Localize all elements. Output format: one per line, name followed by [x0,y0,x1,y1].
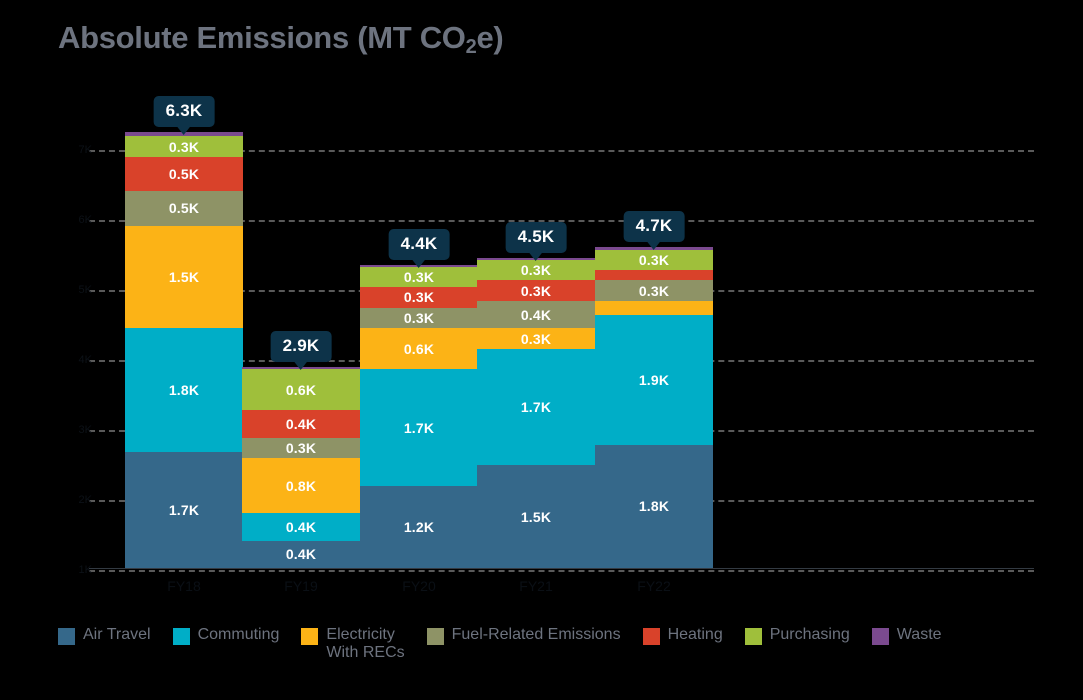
bar-segment[interactable]: 1.8K [125,328,243,451]
segment-value-label: 0.3K [286,441,316,455]
legend-label: Waste [897,626,942,644]
total-value-callout: 6.3K [154,96,215,127]
segment-value-label: 0.3K [639,253,669,267]
legend-color-swatch [643,628,660,645]
total-value-callout: 4.5K [506,222,567,253]
segment-value-label: 0.8K [286,479,316,493]
segment-value-label: 0.3K [404,270,434,284]
bar-segment[interactable]: 0.3K [360,267,478,288]
segment-value-label: 1.7K [404,421,434,435]
segment-value-label: 1.2K [404,520,434,534]
bar-segment[interactable]: 0.6K [360,328,478,369]
bar-segment[interactable]: 0.3K [595,250,713,271]
bar-segment[interactable] [595,301,713,315]
bar-segment[interactable]: 0.6K [242,369,360,410]
bar-group[interactable]: 1.2K1.7K0.6K0.3K0.3K0.3K [360,265,478,568]
bar-segment[interactable]: 0.4K [242,513,360,540]
x-axis-tick-label: FY19 [284,578,317,594]
legend-item[interactable]: Commuting [173,626,280,645]
legend-label: Heating [668,626,723,644]
title-tail: e) [476,20,503,55]
bar-segment[interactable]: 0.3K [242,438,360,459]
bar-segment[interactable]: 0.3K [477,328,595,349]
total-value-callout: 2.9K [271,331,332,362]
segment-value-label: 1.5K [169,270,199,284]
segment-value-label: 1.8K [169,383,199,397]
segment-value-label: 0.5K [169,201,199,215]
legend-label: Electricity With RECs [326,626,404,662]
legend-label: Commuting [198,626,280,644]
bar-segment[interactable]: 0.3K [125,136,243,157]
bar-segment[interactable]: 0.5K [125,157,243,191]
title-main: Absolute Emissions (MT CO [58,20,466,55]
x-axis-tick-label: FY22 [637,578,670,594]
page-title: Absolute Emissions (MT CO2e) [58,20,503,56]
legend-item[interactable]: Waste [872,626,942,645]
x-axis-tick-label: FY18 [167,578,200,594]
bar-segment[interactable]: 1.2K [360,486,478,568]
legend-label: Fuel-Related Emissions [452,626,621,644]
plot-area: 7K6K5K4K3K2K1K 1.7K1.8K1.5K0.5K0.5K0.3K6… [60,130,1020,570]
segment-value-label: 0.3K [521,332,551,346]
segment-value-label: 0.3K [404,290,434,304]
segment-value-label: 1.5K [521,510,551,524]
bar-segment[interactable]: 1.7K [125,452,243,568]
total-value-callout: 4.7K [624,211,685,242]
bar-segment[interactable]: 1.5K [477,465,595,568]
chart-legend: Air TravelCommutingElectricity With RECs… [58,626,1058,662]
bar-segment[interactable]: 0.3K [477,260,595,281]
gridline [89,570,1034,572]
legend-color-swatch [872,628,889,645]
bar-group[interactable]: 0.4K0.4K0.8K0.3K0.4K0.6K [242,367,360,568]
legend-color-swatch [173,628,190,645]
legend-item[interactable]: Air Travel [58,626,151,645]
segment-value-label: 0.4K [521,308,551,322]
bar-segment[interactable]: 0.8K [242,458,360,513]
bar-segment[interactable]: 0.5K [125,191,243,225]
segment-value-label: 1.7K [521,400,551,414]
bar-segment[interactable]: 0.4K [242,410,360,437]
legend-color-swatch [427,628,444,645]
bar-stack: 1.8K1.9K0.3K0.3K [595,247,713,568]
bar-segment[interactable] [595,270,713,280]
segment-value-label: 0.3K [169,140,199,154]
bar-segment[interactable]: 1.8K [595,445,713,568]
legend-item[interactable]: Heating [643,626,723,645]
segment-value-label: 0.3K [521,263,551,277]
legend-color-swatch [745,628,762,645]
segment-value-label: 1.8K [639,499,669,513]
x-axis-tick-label: FY20 [402,578,435,594]
bar-segment[interactable]: 1.7K [477,349,595,465]
title-subscript: 2 [466,36,477,58]
legend-label: Purchasing [770,626,850,644]
segment-value-label: 0.6K [404,342,434,356]
x-axis-tick-label: FY21 [519,578,552,594]
segment-value-label: 0.4K [286,417,316,431]
bar-group[interactable]: 1.7K1.8K1.5K0.5K0.5K0.3K [125,132,243,568]
bar-stack: 1.5K1.7K0.3K0.4K0.3K0.3K [477,258,595,568]
legend-label: Air Travel [83,626,151,644]
bar-segment[interactable]: 1.7K [360,369,478,485]
segment-value-label: 0.3K [639,284,669,298]
bar-segment[interactable]: 1.9K [595,315,713,445]
segment-value-label: 0.3K [404,311,434,325]
legend-color-swatch [58,628,75,645]
bar-stack: 1.7K1.8K1.5K0.5K0.5K0.3K [125,132,243,568]
bar-segment[interactable]: 0.3K [360,287,478,308]
segment-value-label: 0.6K [286,383,316,397]
bar-segment[interactable]: 1.5K [125,226,243,329]
bar-group[interactable]: 1.5K1.7K0.3K0.4K0.3K0.3K [477,258,595,568]
bar-stack: 0.4K0.4K0.8K0.3K0.4K0.6K [242,367,360,568]
segment-value-label: 1.7K [169,503,199,517]
bar-segment[interactable]: 0.3K [595,280,713,301]
legend-color-swatch [301,628,318,645]
bar-segment[interactable]: 0.3K [477,280,595,301]
bar-segment[interactable]: 0.3K [360,308,478,329]
segment-value-label: 0.4K [286,547,316,561]
segment-value-label: 0.3K [521,284,551,298]
bars-layer: 1.7K1.8K1.5K0.5K0.5K0.3K6.3K0.4K0.4K0.8K… [60,130,1020,570]
segment-value-label: 0.5K [169,167,199,181]
emissions-chart: Absolute Emissions (MT CO2e) 7K6K5K4K3K2… [0,0,1083,700]
legend-item[interactable]: Electricity With RECs [301,626,404,662]
segment-value-label: 1.9K [639,373,669,387]
bar-group[interactable]: 1.8K1.9K0.3K0.3K [595,247,713,568]
bar-stack: 1.2K1.7K0.6K0.3K0.3K0.3K [360,265,478,568]
total-value-callout: 4.4K [389,229,450,260]
bar-segment[interactable]: 0.4K [477,301,595,328]
legend-item[interactable]: Purchasing [745,626,850,645]
segment-value-label: 0.4K [286,520,316,534]
legend-item[interactable]: Fuel-Related Emissions [427,626,621,645]
bar-segment[interactable]: 0.4K [242,541,360,568]
